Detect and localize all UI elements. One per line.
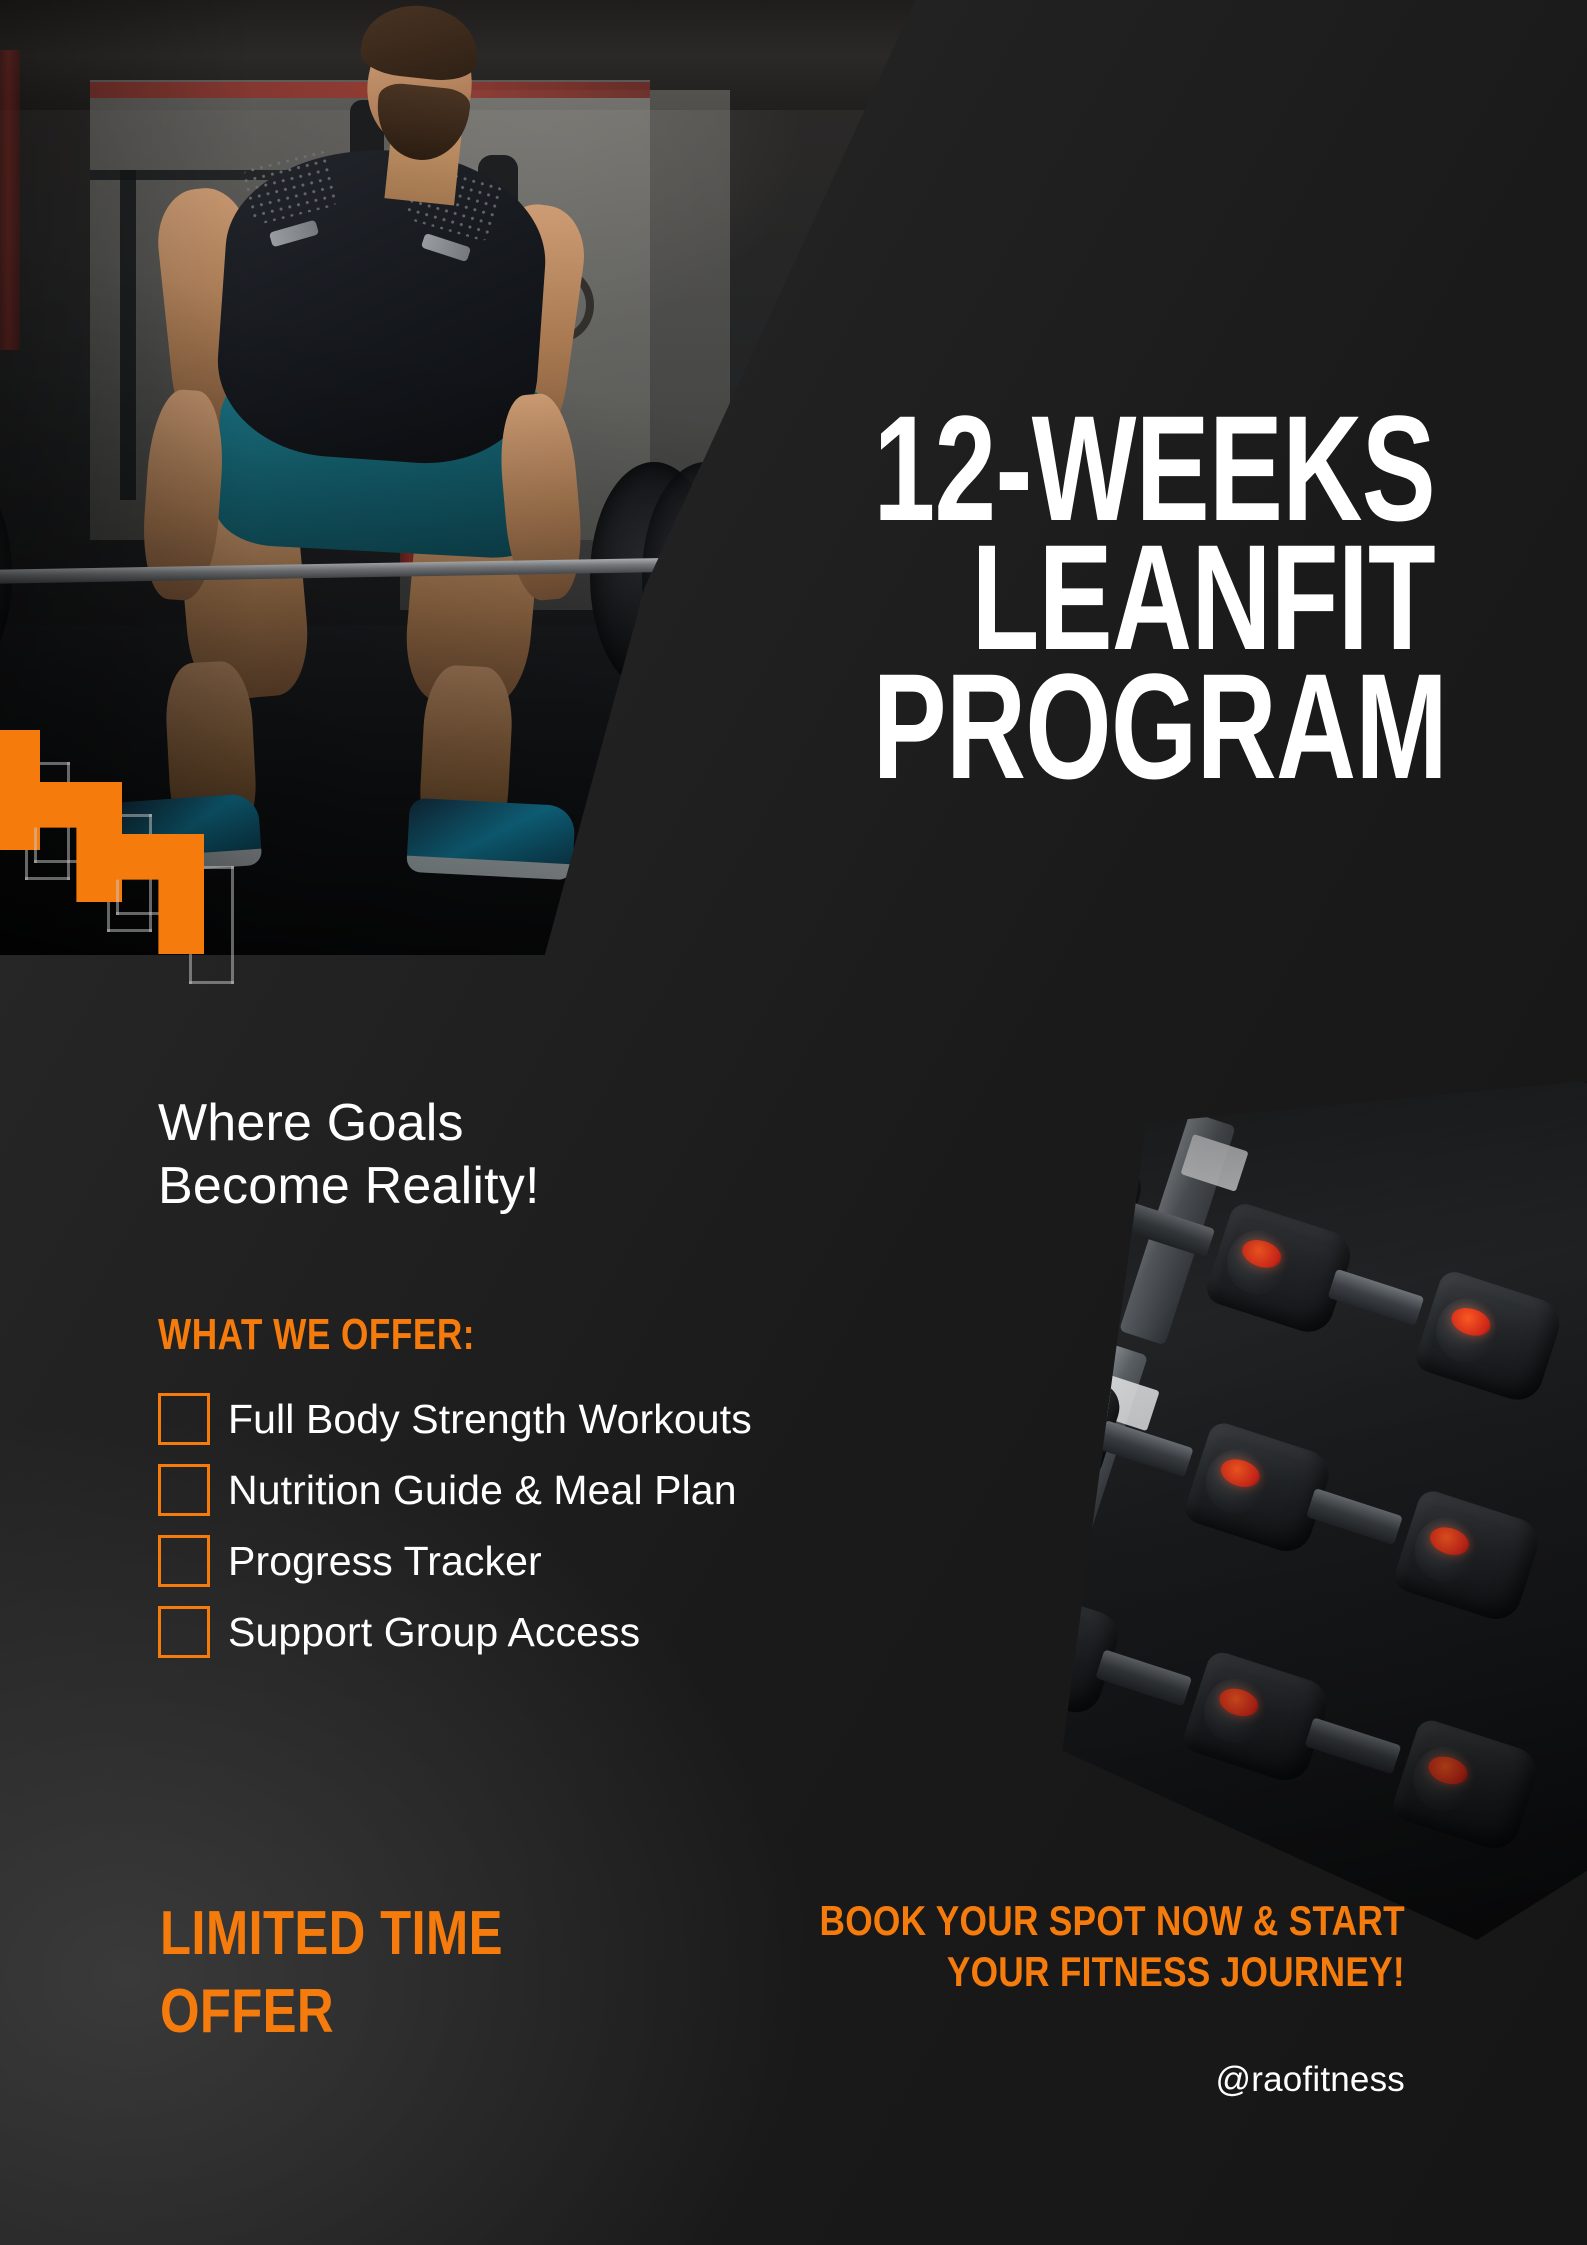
offer-section-title: WHAT WE OFFER: [158, 1310, 475, 1360]
poster-subheading: Where Goals Become Reality! [158, 1092, 540, 1219]
headline-line-3: PROGRAM [873, 662, 1435, 791]
limited-time-offer-text: LIMITED TIME OFFER [160, 1895, 503, 2050]
list-item[interactable]: Progress Tracker [158, 1532, 958, 1590]
fitness-promo-poster: 12-WEEKS LEANFIT PROGRAM Where Goals Bec… [0, 0, 1587, 2245]
checkbox-icon[interactable] [158, 1535, 210, 1587]
offer-checklist: Full Body Strength Workouts Nutrition Gu… [158, 1390, 958, 1674]
offer-item-label: Progress Tracker [228, 1538, 542, 1585]
offer-item-label: Full Body Strength Workouts [228, 1396, 752, 1443]
cta-line-1: BOOK YOUR SPOT NOW & START [820, 1895, 1405, 1946]
poster-headline: 12-WEEKS LEANFIT PROGRAM [873, 404, 1435, 791]
dumbbell-rack-photo [1040, 1080, 1587, 1940]
checkbox-icon[interactable] [158, 1606, 210, 1658]
subhead-line-2: Become Reality! [158, 1155, 540, 1218]
hero-athlete-photo [0, 0, 920, 955]
list-item[interactable]: Support Group Access [158, 1603, 958, 1661]
limited-line-1: LIMITED TIME [160, 1895, 503, 1973]
offer-item-label: Support Group Access [228, 1609, 640, 1656]
checkbox-icon[interactable] [158, 1464, 210, 1516]
offer-item-label: Nutrition Guide & Meal Plan [228, 1467, 737, 1514]
list-item[interactable]: Nutrition Guide & Meal Plan [158, 1461, 958, 1519]
subhead-line-1: Where Goals [158, 1092, 540, 1155]
checkbox-icon[interactable] [158, 1393, 210, 1445]
social-handle[interactable]: @raofitness [1216, 2060, 1405, 2100]
limited-line-2: OFFER [160, 1973, 503, 2051]
cta-line-2: YOUR FITNESS JOURNEY! [820, 1946, 1405, 1997]
call-to-action-text: BOOK YOUR SPOT NOW & START YOUR FITNESS … [820, 1895, 1405, 1997]
list-item[interactable]: Full Body Strength Workouts [158, 1390, 958, 1448]
